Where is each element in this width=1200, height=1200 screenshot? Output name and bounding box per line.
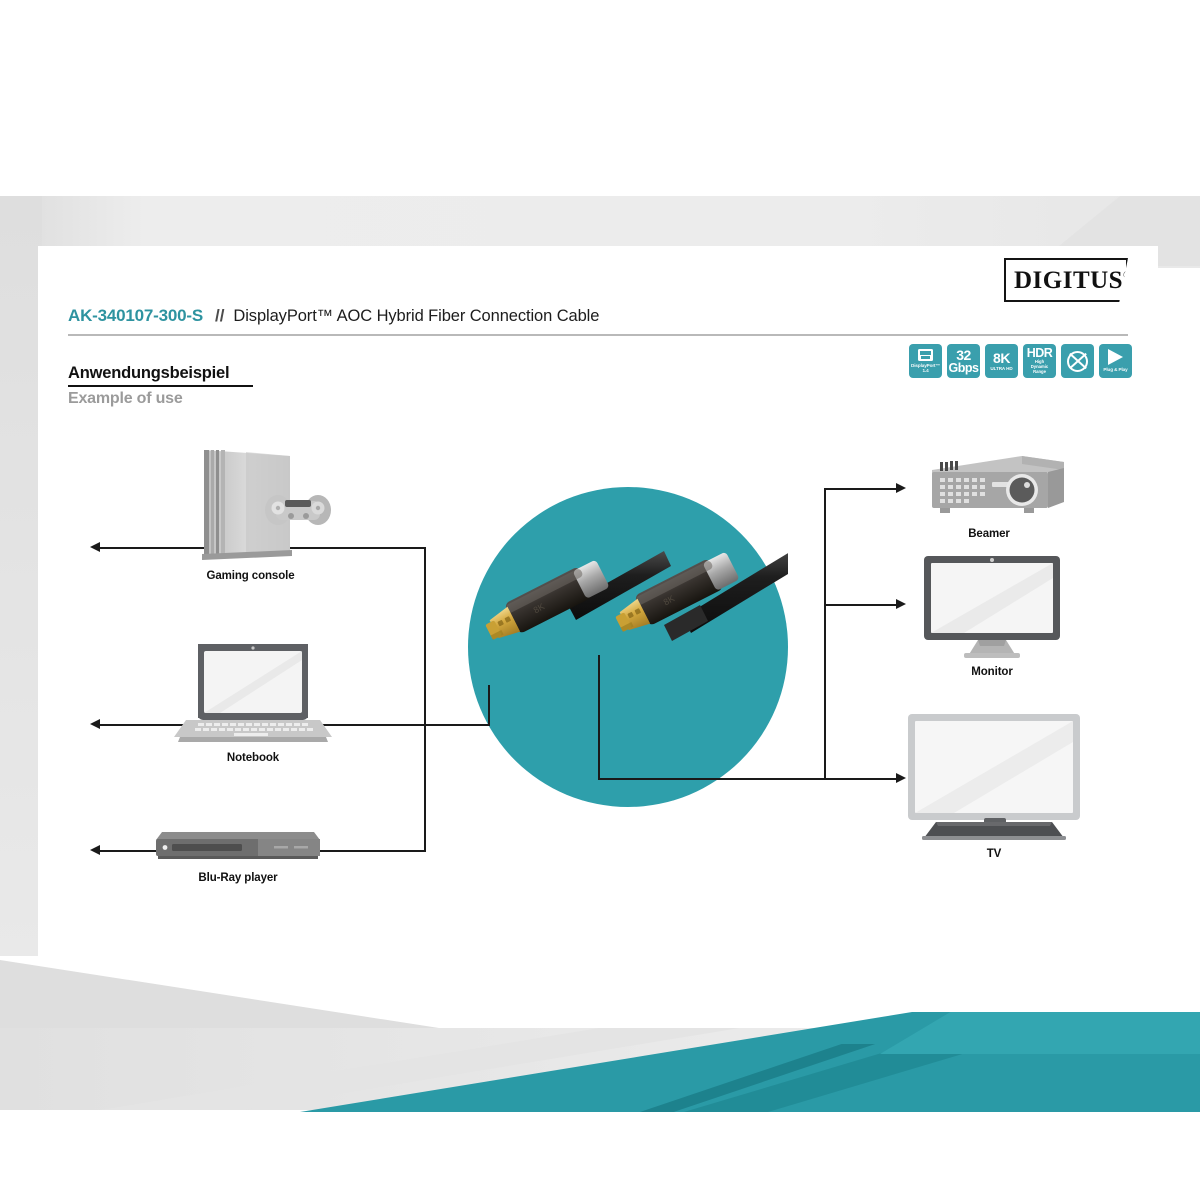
- no-emi-badge: [1061, 344, 1094, 378]
- notebook-label: Notebook: [168, 752, 338, 764]
- bandwidth-value: 32: [956, 348, 971, 362]
- bluray-player: [148, 820, 328, 868]
- line-right-riser: [824, 488, 826, 779]
- plug-and-play-badge: Plug & Play: [1099, 344, 1132, 378]
- tv: [894, 708, 1094, 844]
- line-to-beamer: [824, 488, 898, 490]
- line-left-riser-up: [424, 547, 426, 725]
- hdr-badge: HDR High Dynamic Range: [1023, 344, 1056, 378]
- displayport-badge-label: DisplayPort™ 1.4: [909, 363, 942, 373]
- line-left-riser-down: [424, 724, 426, 852]
- gaming-console-label: Gaming console: [158, 570, 343, 582]
- arrow-to-gaming-console: [90, 542, 100, 552]
- crossed-circle-icon: [1067, 351, 1088, 372]
- resolution-sub: ULTRA HD: [990, 366, 1012, 371]
- bandwidth-badge: 32 Gbps: [947, 344, 980, 378]
- plug-and-play-label: Plug & Play: [1103, 367, 1127, 372]
- product-title-row: AK-340107-300-S // DisplayPort™ AOC Hybr…: [68, 306, 1128, 334]
- section-heading-de: Anwendungsbeispiel: [68, 364, 229, 383]
- background-strip-left: [0, 196, 42, 956]
- monitor: [912, 552, 1072, 662]
- beamer: [904, 444, 1074, 524]
- line-to-monitor: [824, 604, 898, 606]
- resolution-badge: 8K ULTRA HD: [985, 344, 1018, 378]
- title-separator: //: [215, 306, 224, 326]
- gaming-console: [158, 442, 343, 562]
- hdr-value: HDR: [1027, 347, 1053, 360]
- resolution-value: 8K: [993, 351, 1010, 365]
- product-sku: AK-340107-300-S: [68, 306, 203, 326]
- application-diagram: 8K 8K: [38, 420, 1158, 920]
- arrow-to-notebook: [90, 719, 100, 729]
- section-heading-underline: [68, 385, 253, 387]
- title-divider: [68, 334, 1128, 336]
- monitor-label: Monitor: [912, 666, 1072, 678]
- line-left-plug-stub: [488, 685, 490, 725]
- notebook: [168, 638, 338, 748]
- section-heading-en: Example of use: [68, 390, 183, 408]
- displayport-cable-image: 8K 8K: [468, 487, 788, 807]
- product-name: DisplayPort™ AOC Hybrid Fiber Connection…: [233, 307, 599, 326]
- line-right-trunk: [598, 778, 826, 780]
- bandwidth-unit: Gbps: [949, 362, 979, 375]
- tv-label: TV: [894, 848, 1094, 860]
- displayport-badge: DisplayPort™ 1.4: [909, 344, 942, 378]
- line-right-plug-stub: [598, 655, 600, 779]
- displayport-connector-icon: [918, 349, 933, 361]
- arrow-icon: [1108, 349, 1123, 365]
- hdr-sub-3: Range: [1033, 370, 1046, 375]
- beamer-label: Beamer: [904, 528, 1074, 540]
- datasheet-page: DIGITUS® AK-340107-300-S // DisplayPort™…: [0, 0, 1200, 1200]
- logo-wordmark: DIGITUS: [1014, 267, 1123, 294]
- arrow-to-bluray: [90, 845, 100, 855]
- digitus-logo: DIGITUS®: [1004, 258, 1128, 302]
- arrow-to-monitor: [896, 599, 906, 609]
- bluray-player-label: Blu-Ray player: [148, 872, 328, 884]
- line-to-tv: [824, 778, 898, 780]
- feature-badge-group: DisplayPort™ 1.4 32 Gbps 8K ULTRA HD HDR…: [909, 344, 1132, 378]
